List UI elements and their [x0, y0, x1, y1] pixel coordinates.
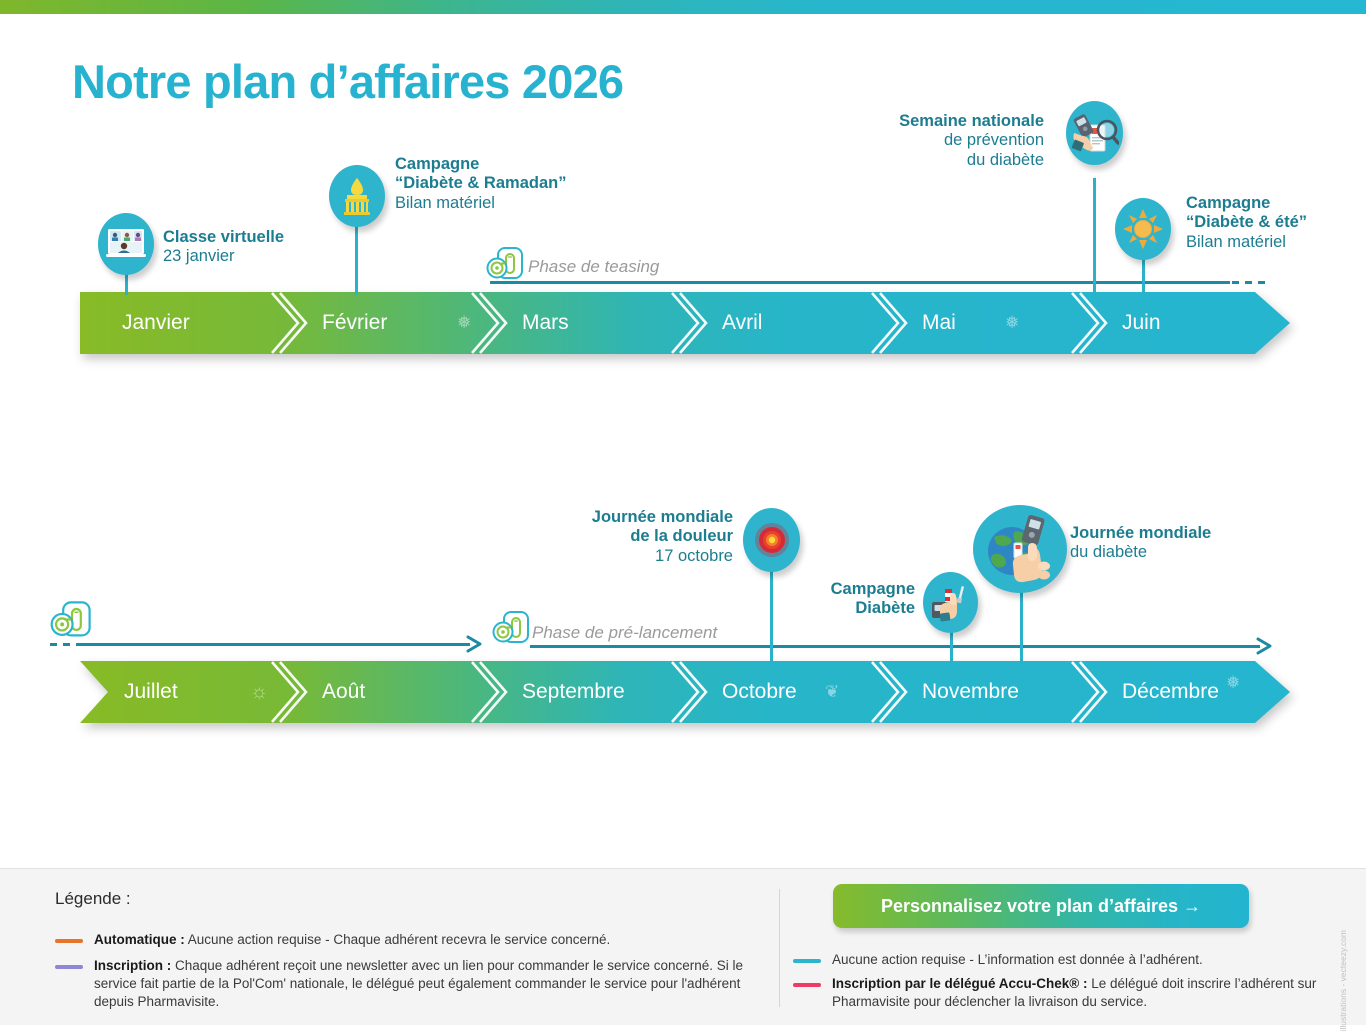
personalize-plan-button[interactable]: Personnalisez votre plan d’affaires → — [833, 884, 1249, 928]
legend-swatch-pink — [793, 983, 821, 987]
pin-title-line1: Campagne — [1186, 194, 1307, 213]
top-gradient-bar — [0, 0, 1366, 14]
legend-swatch-cyan — [793, 959, 821, 963]
legend-item-automatique: Automatique : Aucune action requise - Ch… — [55, 931, 755, 949]
pin-label-campagne-ete: Campagne “Diabète & été” Bilan matériel — [1186, 194, 1307, 252]
arrow-head-icon — [1256, 636, 1274, 661]
legend-text-automatique: Automatique : Aucune action requise - Ch… — [94, 931, 610, 949]
phase-line-prelaunch-a — [80, 643, 470, 646]
world-diabetes-icon — [973, 505, 1067, 593]
pin-title: Classe virtuelle — [163, 228, 284, 247]
virtual-classroom-icon — [98, 213, 154, 275]
pin-title-line2: “Diabète & été” — [1186, 213, 1307, 232]
pin-subtitle: Bilan matériel — [1186, 233, 1307, 252]
pin-label-classe-virtuelle: Classe virtuelle 23 janvier — [163, 228, 284, 267]
phase-line-prelaunch-b — [530, 645, 1260, 648]
pin-subtitle: du diabète — [1070, 543, 1211, 562]
pin-stem — [1142, 257, 1145, 295]
timeline-bar-h1 — [80, 292, 1290, 354]
glucose-meter-icon — [492, 610, 532, 651]
legend-body: Aucune action requise - L’information es… — [832, 952, 1203, 967]
timeline-bar-h2 — [80, 661, 1290, 723]
pin-stem — [355, 222, 358, 295]
pin-subtitle: 23 janvier — [163, 247, 284, 266]
legend-label: Inscription par le délégué Accu-Chek® : — [832, 976, 1088, 991]
legend-divider — [779, 889, 780, 1007]
pin-label-campagne-ramadan: Campagne “Diabète & Ramadan” Bilan matér… — [395, 155, 566, 213]
legend-body: Aucune action requise - Chaque adhérent … — [185, 932, 611, 947]
glucose-meter-icon — [50, 600, 94, 645]
pin-subtitle: Bilan matériel — [395, 194, 566, 213]
pin-title: Semaine nationale — [866, 112, 1044, 131]
pin-title-line1: Campagne — [740, 580, 915, 599]
legend-label: Inscription : — [94, 958, 171, 973]
pin-label-semaine-prevention: Semaine nationale de prévention du diabè… — [866, 112, 1044, 170]
pin-title: Journée mondiale — [1070, 524, 1211, 543]
pin-label-journee-douleur: Journée mondiale de la douleur 17 octobr… — [548, 508, 733, 566]
legend-label: Automatique : — [94, 932, 185, 947]
page-title: Notre plan d’affaires 2026 — [72, 58, 623, 105]
pin-subtitle-line1: de prévention — [866, 131, 1044, 150]
glucose-meter-icon — [486, 246, 526, 287]
legend-text-inscription: Inscription : Chaque adhérent reçoit une… — [94, 957, 755, 1011]
watermark-credit: illustrations - vecteezy.com — [1338, 930, 1348, 1031]
legend-swatch-orange — [55, 939, 83, 943]
arrow-head-icon — [466, 634, 484, 659]
legend-text-inscription-delegue: Inscription par le délégué Accu-Chek® : … — [832, 975, 1338, 1011]
phase-line-teasing-dashes — [1232, 281, 1270, 284]
legend-item-information: Aucune action requise - L’information es… — [793, 951, 1338, 969]
legend-heading: Légende : — [55, 889, 131, 909]
legend-item-inscription: Inscription : Chaque adhérent reçoit une… — [55, 957, 755, 1011]
sun-icon — [1115, 198, 1171, 260]
phase-label-teasing: Phase de teasing — [528, 257, 659, 277]
phase-label-prelaunch: Phase de pré-lancement — [532, 623, 717, 643]
pin-subtitle: 17 octobre — [548, 547, 733, 566]
finger-prick-icon — [923, 572, 978, 633]
pin-title-line2: de la douleur — [548, 527, 733, 546]
pin-stem — [1020, 588, 1023, 664]
pin-title-line1: Journée mondiale — [548, 508, 733, 527]
legend-body: Chaque adhérent reçoit une newsletter av… — [94, 958, 743, 1009]
pain-target-icon — [743, 508, 800, 572]
pin-title-line2: Diabète — [740, 599, 915, 618]
pin-label-journee-diabete: Journée mondiale du diabète — [1070, 524, 1211, 563]
pin-stem — [950, 628, 953, 664]
mosque-icon — [329, 165, 385, 227]
phase2-start-dashes — [50, 643, 80, 646]
legend-item-inscription-delegue: Inscription par le délégué Accu-Chek® : … — [793, 975, 1338, 1011]
pin-stem — [1093, 178, 1096, 295]
pin-title-line1: Campagne — [395, 155, 566, 174]
pin-label-campagne-diabete: Campagne Diabète — [740, 580, 915, 619]
phase-line-teasing — [490, 281, 1230, 284]
pin-title-line2: “Diabète & Ramadan” — [395, 174, 566, 193]
legend-swatch-purple — [55, 965, 83, 969]
legend-text-information: Aucune action requise - L’information es… — [832, 951, 1203, 969]
pin-subtitle-line2: du diabète — [866, 151, 1044, 170]
glucometer-report-icon — [1066, 101, 1123, 165]
